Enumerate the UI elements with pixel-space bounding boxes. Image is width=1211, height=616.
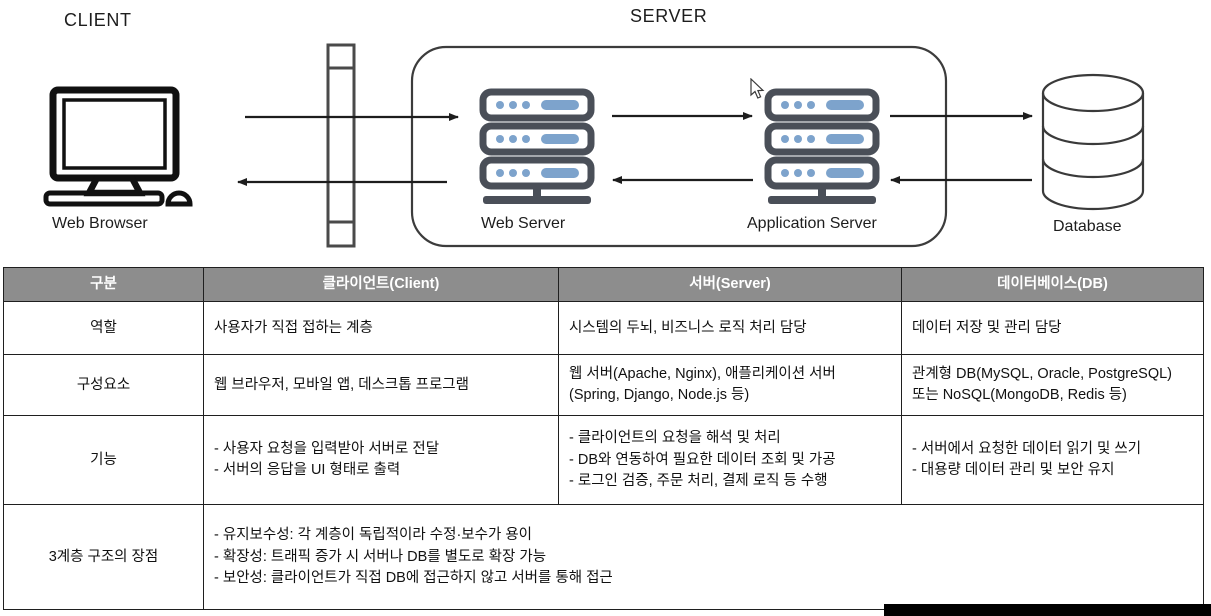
cell-lines: 시스템의 두뇌, 비즈니스 로직 처리 담당: [569, 318, 891, 339]
cell-line: 관계형 DB(MySQL, Oracle, PostgreSQL): [912, 364, 1193, 385]
bottom-black-bar: [884, 604, 1211, 616]
cell-line: - 보안성: 클라이언트가 직접 DB에 접근하지 않고 서버를 통해 접근: [214, 568, 1193, 589]
database-label: Database: [1053, 218, 1122, 236]
diagram-canvas: [0, 0, 1211, 264]
web-browser-label: Web Browser: [52, 215, 148, 233]
cell-line: - 로그인 검증, 주문 처리, 결제 로직 등 수행: [569, 471, 891, 492]
table-header: 구분 클라이언트(Client) 서버(Server) 데이터베이스(DB): [4, 268, 1204, 302]
column-header-category: 구분: [4, 268, 204, 302]
cell-function-database: - 서버에서 요청한 데이터 읽기 및 쓰기 - 대용량 데이터 관리 및 보안…: [902, 416, 1204, 505]
cell-role-client: 사용자가 직접 접하는 계층: [204, 302, 559, 355]
column-header-server: 서버(Server): [559, 268, 902, 302]
cell-line: (Spring, Django, Node.js 등): [569, 385, 891, 406]
server-rack-icon-application: [768, 92, 876, 204]
column-header-database: 데이터베이스(DB): [902, 268, 1204, 302]
cell-line: - 서버의 응답을 UI 형태로 출력: [214, 460, 548, 481]
table-header-row: 구분 클라이언트(Client) 서버(Server) 데이터베이스(DB): [4, 268, 1204, 302]
cell-line: 웹 브라우저, 모바일 앱, 데스크톱 프로그램: [214, 375, 548, 396]
table-row: 역할 사용자가 직접 접하는 계층 시스템의 두뇌, 비즈니스 로직 처리 담당: [4, 302, 1204, 355]
cell-line: - 서버에서 요청한 데이터 읽기 및 쓰기: [912, 439, 1193, 460]
cell-function-server: - 클라이언트의 요청을 해석 및 처리 - DB와 연동하여 필요한 데이터 …: [559, 416, 902, 505]
cell-lines: - 클라이언트의 요청을 해석 및 처리 - DB와 연동하여 필요한 데이터 …: [569, 428, 891, 491]
cell-line: - 확장성: 트래픽 증가 시 서버나 DB를 별도로 확장 가능: [214, 547, 1193, 568]
cell-line: 사용자가 직접 접하는 계층: [214, 318, 548, 339]
comparison-table: 구분 클라이언트(Client) 서버(Server) 데이터베이스(DB) 역…: [3, 267, 1204, 610]
page-root: CLIENT SERVER Web Browser Web Server App…: [0, 0, 1211, 616]
cell-lines: 데이터 저장 및 관리 담당: [912, 318, 1193, 339]
cell-advantages: - 유지보수성: 각 계층이 독립적이라 수정·보수가 용이 - 확장성: 트래…: [204, 505, 1204, 610]
cell-lines: 사용자가 직접 접하는 계층: [214, 318, 548, 339]
row-label-function: 기능: [4, 416, 204, 505]
cell-line: 또는 NoSQL(MongoDB, Redis 등): [912, 385, 1193, 406]
network-channel-icon: [328, 45, 354, 246]
client-zone-label: CLIENT: [64, 10, 132, 31]
cell-lines: 관계형 DB(MySQL, Oracle, PostgreSQL) 또는 NoS…: [912, 364, 1193, 406]
table-row: 3계층 구조의 장점 - 유지보수성: 각 계층이 독립적이라 수정·보수가 용…: [4, 505, 1204, 610]
cell-line: - 유지보수성: 각 계층이 독립적이라 수정·보수가 용이: [214, 525, 1193, 546]
desktop-computer-icon: [46, 90, 190, 204]
cell-line: - 클라이언트의 요청을 해석 및 처리: [569, 428, 891, 449]
application-server-label: Application Server: [747, 215, 877, 233]
column-header-client: 클라이언트(Client): [204, 268, 559, 302]
table-row: 구성요소 웹 브라우저, 모바일 앱, 데스크톱 프로그램 웹 서버(Apach…: [4, 355, 1204, 416]
server-rack-icon-web: [483, 92, 591, 204]
row-label-components: 구성요소: [4, 355, 204, 416]
database-cylinder-icon: [1043, 75, 1143, 209]
table-body: 역할 사용자가 직접 접하는 계층 시스템의 두뇌, 비즈니스 로직 처리 담당: [4, 302, 1204, 610]
server-zone-label: SERVER: [630, 6, 707, 27]
row-label-role: 역할: [4, 302, 204, 355]
cell-line: - 사용자 요청을 입력받아 서버로 전달: [214, 439, 548, 460]
cell-role-database: 데이터 저장 및 관리 담당: [902, 302, 1204, 355]
cell-lines: 웹 서버(Apache, Nginx), 애플리케이션 서버 (Spring, …: [569, 364, 891, 406]
architecture-diagram: CLIENT SERVER Web Browser Web Server App…: [0, 0, 1211, 264]
cell-line: - 대용량 데이터 관리 및 보안 유지: [912, 460, 1193, 481]
cell-line: 시스템의 두뇌, 비즈니스 로직 처리 담당: [569, 318, 891, 339]
flow-arrows: [238, 116, 1032, 182]
mouse-pointer-icon: [750, 78, 766, 100]
row-label-advantages: 3계층 구조의 장점: [4, 505, 204, 610]
cell-components-server: 웹 서버(Apache, Nginx), 애플리케이션 서버 (Spring, …: [559, 355, 902, 416]
cell-line: - DB와 연동하여 필요한 데이터 조회 및 가공: [569, 450, 891, 471]
cell-lines: - 서버에서 요청한 데이터 읽기 및 쓰기 - 대용량 데이터 관리 및 보안…: [912, 439, 1193, 481]
cell-function-client: - 사용자 요청을 입력받아 서버로 전달 - 서버의 응답을 UI 형태로 출…: [204, 416, 559, 505]
comparison-table-container: 구분 클라이언트(Client) 서버(Server) 데이터베이스(DB) 역…: [3, 267, 1203, 610]
cell-line: 데이터 저장 및 관리 담당: [912, 318, 1193, 339]
cell-components-database: 관계형 DB(MySQL, Oracle, PostgreSQL) 또는 NoS…: [902, 355, 1204, 416]
cell-components-client: 웹 브라우저, 모바일 앱, 데스크톱 프로그램: [204, 355, 559, 416]
cell-line: 웹 서버(Apache, Nginx), 애플리케이션 서버: [569, 364, 891, 385]
cell-lines: - 유지보수성: 각 계층이 독립적이라 수정·보수가 용이 - 확장성: 트래…: [214, 525, 1193, 588]
cell-role-server: 시스템의 두뇌, 비즈니스 로직 처리 담당: [559, 302, 902, 355]
web-server-label: Web Server: [481, 215, 565, 233]
table-row: 기능 - 사용자 요청을 입력받아 서버로 전달 - 서버의 응답을 UI 형태…: [4, 416, 1204, 505]
cell-lines: - 사용자 요청을 입력받아 서버로 전달 - 서버의 응답을 UI 형태로 출…: [214, 439, 548, 481]
cell-lines: 웹 브라우저, 모바일 앱, 데스크톱 프로그램: [214, 375, 548, 396]
